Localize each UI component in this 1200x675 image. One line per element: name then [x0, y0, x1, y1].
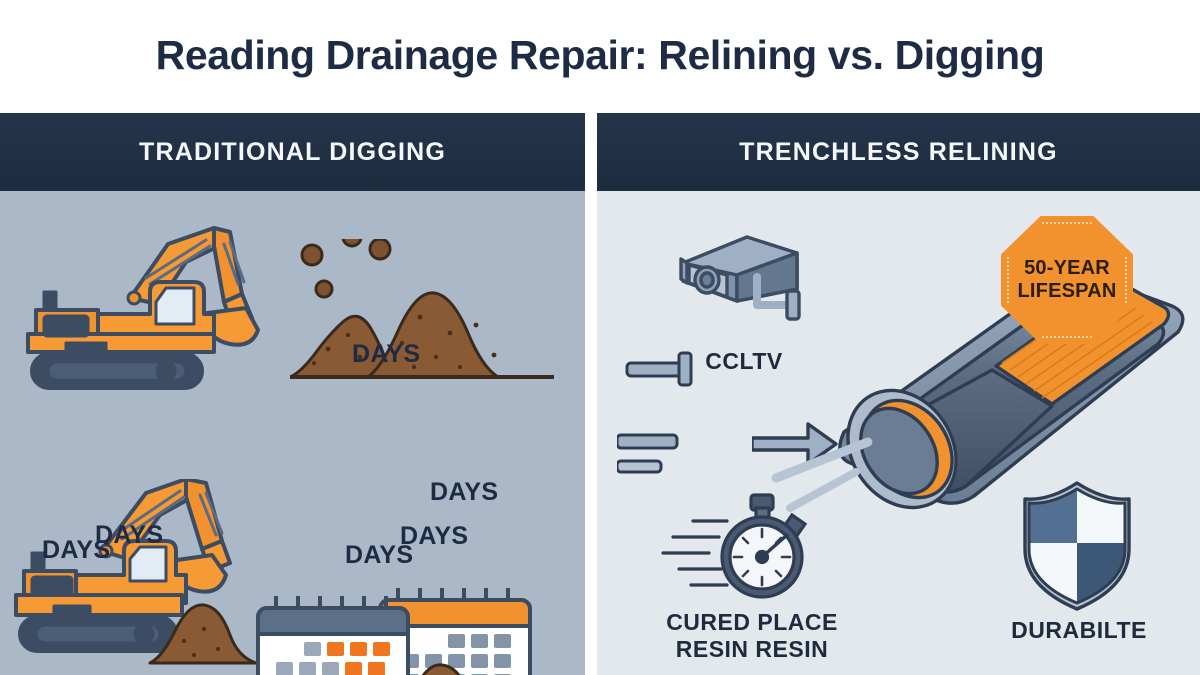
lifespan-badge: 50-YEAR LIFESPAN: [1001, 216, 1133, 344]
panel-trenchless-relining: TRENCHLESS RELINING: [597, 113, 1200, 675]
dirt-mound-large-icon: [290, 239, 560, 381]
panel-left-header: TRADITIONAL DIGGING: [0, 113, 585, 191]
days-label-1: DAYS: [352, 340, 420, 369]
pipe-push-rods-icon: [617, 349, 737, 479]
panel-divider: [585, 113, 597, 675]
title-bar: Reading Drainage Repair: Relining vs. Di…: [0, 0, 1200, 110]
cipp-resin-label-line2: RESIN RESIN: [627, 636, 877, 663]
days-label-2: DAYS: [430, 478, 498, 507]
panel-right-header-label: TRENCHLESS RELINING: [739, 138, 1058, 167]
panel-left-body: DAYS DAYS DAYS DAYS DAYS DAYS: [0, 191, 585, 675]
panel-right-body: CCLTV: [597, 191, 1200, 675]
days-label-4: DAYS: [42, 536, 110, 565]
excavator-top-icon: [18, 206, 318, 401]
page-title: Reading Drainage Repair: Relining vs. Di…: [156, 32, 1045, 79]
dirt-mound-calendar-icon: [388, 649, 498, 675]
infographic-root: Reading Drainage Repair: Relining vs. Di…: [0, 0, 1200, 675]
stopwatch-icon: [659, 491, 849, 609]
lifespan-badge-line2: LIFESPAN: [1017, 280, 1116, 303]
panel-left-header-label: TRADITIONAL DIGGING: [139, 138, 446, 167]
days-label-6: DAYS: [345, 541, 413, 570]
panel-traditional-digging: TRADITIONAL DIGGING: [0, 113, 585, 675]
dirt-mound-small-icon: [148, 591, 258, 667]
cipp-resin-label: CURED PLACE RESIN RESIN: [627, 609, 877, 663]
panel-right-header: TRENCHLESS RELINING: [597, 113, 1200, 191]
cipp-resin-label-line1: CURED PLACE: [627, 609, 877, 636]
shield-icon: [1015, 479, 1139, 611]
durability-label: DURABILTE: [979, 617, 1179, 644]
lifespan-badge-line1: 50-YEAR: [1024, 257, 1110, 280]
